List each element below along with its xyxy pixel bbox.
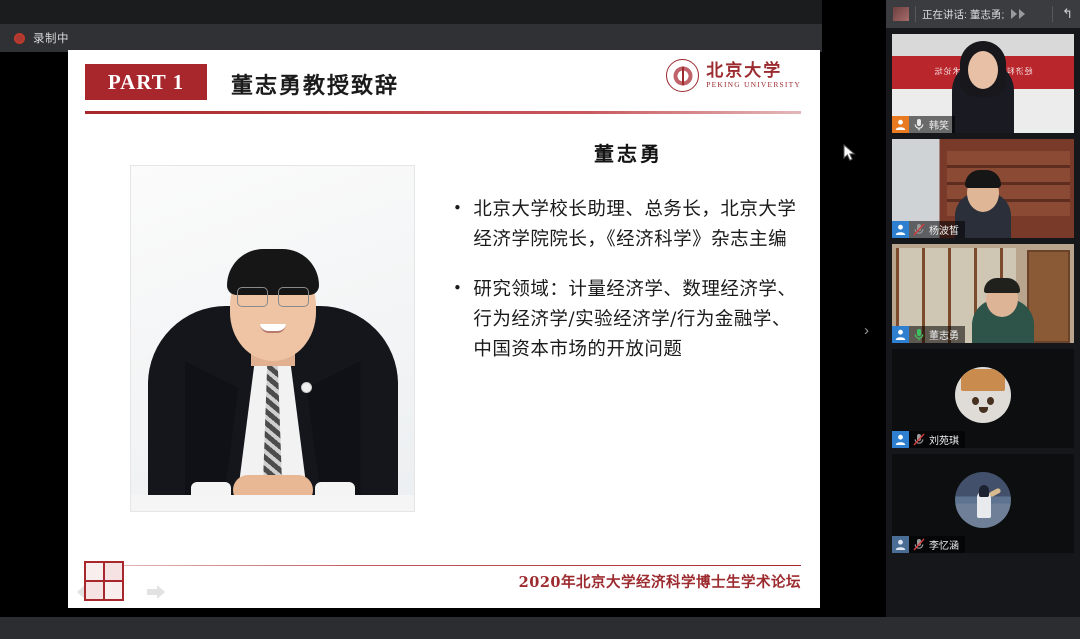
mouse-cursor-icon <box>843 144 856 167</box>
microphone-muted-icon <box>913 433 925 446</box>
participant-tile[interactable]: 杨波皙 <box>892 139 1074 238</box>
speaker-bio-column: 董志勇 • 北京大学校长助理、总务长，北京大学经济学院院长，《经济科学》杂志主编… <box>453 138 804 385</box>
pku-logo-text: 北京大学 PEKING UNIVERSITY <box>706 62 801 90</box>
bio-bullet-1-text: 北京大学校长助理、总务长，北京大学经济学院院长，《经济科学》杂志主编 <box>473 195 804 255</box>
participant-avatar-image <box>955 367 1011 423</box>
slide-title: 董志勇教授致辞 <box>231 68 399 100</box>
bullet-marker-icon: • <box>453 195 462 255</box>
participant-label: 刘苑琪 <box>892 431 965 448</box>
speaker-name: 董志勇 <box>453 138 804 167</box>
pku-logo-cn: 北京大学 <box>706 62 782 81</box>
speaker-thumbnail-icon <box>893 7 909 21</box>
recording-bar: 录制中 <box>0 24 822 52</box>
expand-panel-chevron-icon[interactable]: › <box>864 322 869 339</box>
participant-avatar-image <box>955 472 1011 528</box>
slide-header: PART 1 董志勇教授致辞 北京大学 PEKING UNIVERSITY <box>68 50 820 120</box>
participant-name: 李忆涵 <box>929 537 959 552</box>
participants-panel: 正在讲话: 董志勇; ↰ 经济科学博士生学术论坛 <box>886 0 1080 639</box>
active-speaker-bar[interactable]: 正在讲话: 董志勇; ↰ <box>886 0 1080 28</box>
active-speaking-label: 正在讲话: 董志勇; <box>922 7 1004 22</box>
participant-tile[interactable]: 李忆涵 <box>892 454 1074 553</box>
next-slide-arrow-icon[interactable] <box>146 583 166 601</box>
speaker-portrait-photo <box>130 165 415 512</box>
participant-avatar-icon <box>892 326 909 343</box>
audio-wave-icon <box>1011 9 1025 19</box>
microphone-muted-icon <box>913 538 925 551</box>
participant-avatar-icon <box>892 431 909 448</box>
taskbar <box>0 617 1080 639</box>
part-badge: PART 1 <box>85 64 207 100</box>
top-bar-background <box>0 0 822 24</box>
participant-label: 杨波皙 <box>892 221 965 238</box>
shared-slide[interactable]: PART 1 董志勇教授致辞 北京大学 PEKING UNIVERSITY <box>68 50 820 608</box>
forum-seal-logo-icon <box>84 561 124 601</box>
participant-name: 刘苑琪 <box>929 432 959 447</box>
screen-root: 录制中 PART 1 董志勇教授致辞 北京大学 PEKING UNIVERSIT… <box>0 0 1080 639</box>
peking-university-logo: 北京大学 PEKING UNIVERSITY <box>666 59 801 92</box>
bio-bullet-2-text: 研究领域：计量经济学、数理经济学、行为经济学/实验经济学/行为金融学、中国资本市… <box>473 275 804 365</box>
participant-tile[interactable]: 经济科学博士生学术论坛 韩笑 <box>892 34 1074 133</box>
bullet-marker-icon: • <box>453 275 462 365</box>
more-options-icon[interactable]: ••• <box>124 584 140 600</box>
slide-body: 董志勇 • 北京大学校长助理、总务长，北京大学经济学院院长，《经济科学》杂志主编… <box>68 120 820 560</box>
participant-avatar-icon <box>892 536 909 553</box>
participant-name: 韩笑 <box>929 117 949 132</box>
footer-divider <box>85 565 801 567</box>
participant-tiles: 经济科学博士生学术论坛 韩笑 <box>886 28 1080 639</box>
participant-name: 董志勇 <box>929 327 959 342</box>
participant-avatar-icon <box>892 221 909 238</box>
microphone-muted-icon <box>913 223 925 236</box>
bio-bullet-1: • 北京大学校长助理、总务长，北京大学经济学院院长，《经济科学》杂志主编 <box>453 195 804 255</box>
microphone-active-icon <box>913 328 925 341</box>
microphone-on-icon <box>913 118 925 131</box>
participant-tile[interactable]: 刘苑琪 <box>892 349 1074 448</box>
pku-logo-en: PEKING UNIVERSITY <box>706 80 801 89</box>
recording-indicator-icon <box>14 33 25 44</box>
participant-label: 李忆涵 <box>892 536 965 553</box>
participant-label: 董志勇 <box>892 326 965 343</box>
divider <box>915 6 916 22</box>
pku-seal-icon <box>666 59 699 92</box>
return-arrow-icon[interactable]: ↰ <box>1059 6 1073 22</box>
slide-footer-text: 2020年北京大学经济科学博士生学术论坛 <box>519 571 801 592</box>
recording-label: 录制中 <box>33 30 69 46</box>
header-divider <box>85 111 801 114</box>
participant-tile-active-speaker[interactable]: 董志勇 <box>892 244 1074 343</box>
bio-bullet-2: • 研究领域：计量经济学、数理经济学、行为经济学/实验经济学/行为金融学、中国资… <box>453 275 804 365</box>
participant-avatar-icon <box>892 116 909 133</box>
participant-name: 杨波皙 <box>929 222 959 237</box>
divider <box>1052 6 1053 22</box>
participant-label: 韩笑 <box>892 116 955 133</box>
